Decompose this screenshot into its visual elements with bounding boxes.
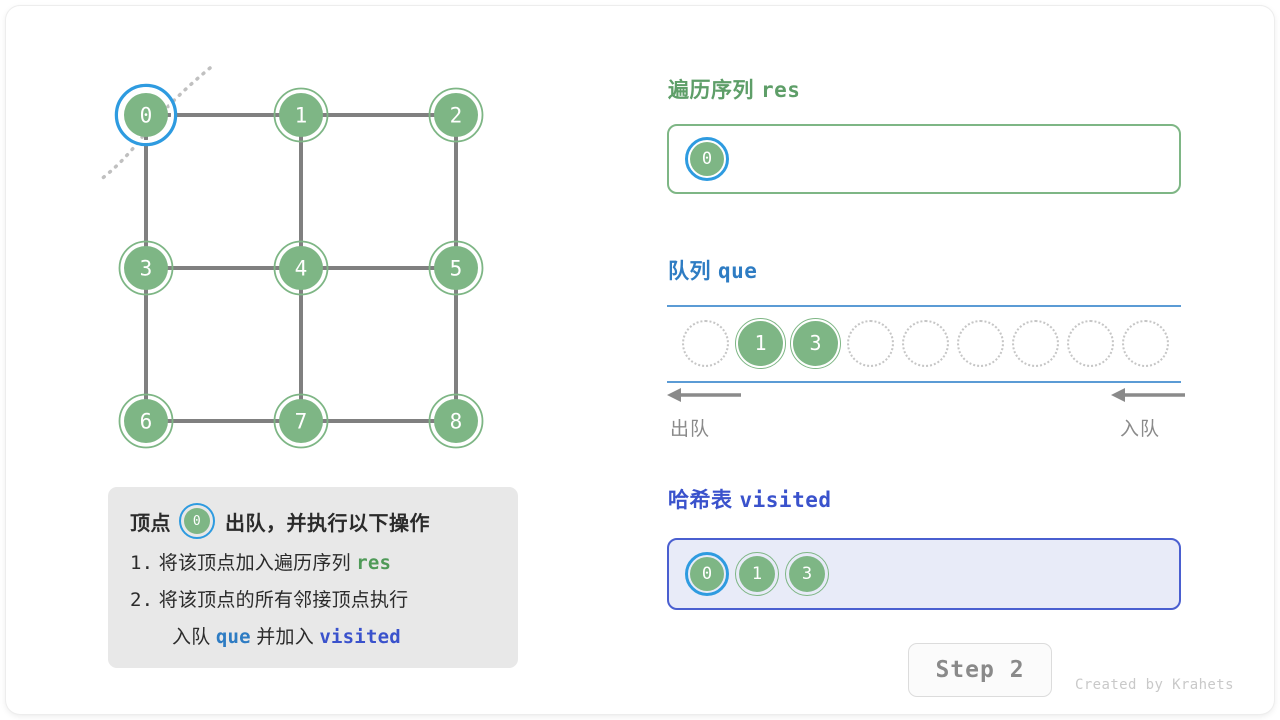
queue-slot-empty [957,320,1004,367]
caption-item-2: 2. 将该顶点的所有邻接顶点执行 [130,588,498,613]
node-chip: 1 [735,552,779,596]
queue-slot-empty [1122,320,1169,367]
queue-slot [954,317,1007,370]
queue-slot: 1 [734,317,787,370]
node-chip-label: 3 [789,556,825,592]
node-chip: 0 [685,552,729,596]
enqueue-label: 入队 [1120,414,1160,441]
queue-slots: 13 [667,311,1181,375]
graph-node-label: 3 [140,257,153,281]
caption-heading: 顶点 0 出队，并执行以下操作 [130,503,498,539]
graph-node-0[interactable]: 0 [117,86,176,145]
caption-head-before: 顶点 [130,507,171,536]
visited-title-cn: 哈希表 [668,489,733,512]
visited-title-code: visited [740,488,832,512]
res-container: 0 [667,124,1181,194]
caption-item-1-number: 1. [130,552,153,574]
enqueue-arrow-icon [1111,386,1187,404]
graph-node-label: 0 [140,104,153,128]
queue-slot: 3 [789,317,842,370]
graph-node-5[interactable]: 5 [430,242,483,295]
queue-slot [1119,317,1172,370]
graph-node-4[interactable]: 4 [275,242,328,295]
caption-box: 顶点 0 出队，并执行以下操作 1. 将该顶点加入遍历序列 res 2. 将该顶… [108,487,518,668]
queue-slot-empty [902,320,949,367]
caption-head-after: 出队，并执行以下操作 [225,507,430,536]
caption-node-label: 0 [184,508,210,534]
graph-node-3[interactable]: 3 [120,242,173,295]
queue-section-title: 队列que [668,255,757,285]
queue-title-code: que [718,259,757,283]
bfs-illustration-page: 012345678 顶点 0 出队，并执行以下操作 1. 将该顶点加入遍历序列 … [0,0,1280,720]
graph-node-label: 6 [140,410,153,434]
state-panel: 遍历序列res 0 队列que 13 出队 入队 哈希表visited 013 … [620,0,1280,720]
queue-slot [1064,317,1117,370]
graph-panel: 012345678 顶点 0 出队，并执行以下操作 1. 将该顶点加入遍历序列 … [0,0,620,720]
dequeue-arrow-icon [667,386,743,404]
res-section-title: 遍历序列res [668,74,800,104]
queue-rail-bottom [667,381,1181,383]
queue-slot-empty [1067,320,1114,367]
caption-item-2-line2-mid: 并加入 [256,627,314,648]
graph-node-1[interactable]: 1 [275,89,328,142]
queue-slot [1009,317,1062,370]
queue-container: 13 [667,305,1181,383]
graph-node-7[interactable]: 7 [275,395,328,448]
queue-slot [844,317,897,370]
queue-rail-top [667,305,1181,307]
caption-item-2-text: 将该顶点的所有邻接顶点执行 [159,590,409,611]
graph-node-label: 8 [450,410,463,434]
caption-item-1-text: 将该顶点加入遍历序列 [159,553,351,574]
graph-node-label: 2 [450,104,463,128]
node-chip-label: 1 [739,556,775,592]
caption-item-2-code-que: que [216,626,251,648]
res-title-cn: 遍历序列 [668,79,754,102]
credit-text: Created by Krahets [1075,677,1234,693]
caption-item-2-number: 2. [130,589,153,611]
caption-item-2-line2: 入队 que 并加入 visited [130,625,498,650]
step-badge: Step 2 [908,643,1052,697]
graph-canvas: 012345678 [0,0,620,480]
visited-section-title: 哈希表visited [668,484,832,514]
caption-node-chip: 0 [179,503,215,539]
queue-slot-empty [682,320,729,367]
node-chip-label: 0 [690,557,724,591]
caption-item-2-line2-before: 入队 [172,627,210,648]
queue-slot-label: 3 [793,321,838,366]
queue-slot [679,317,732,370]
graph-node-label: 4 [295,257,308,281]
queue-slot-label: 1 [738,321,783,366]
caption-item-2-code-visited: visited [319,626,400,648]
node-chip: 3 [785,552,829,596]
node-chip: 0 [685,137,729,181]
node-chip-label: 0 [690,142,724,176]
queue-slot [899,317,952,370]
caption-item-1-code: res [356,552,391,574]
graph-node-2[interactable]: 2 [430,89,483,142]
visited-container: 013 [667,538,1181,610]
dequeue-label: 出队 [670,414,710,441]
graph-node-label: 7 [295,410,308,434]
queue-slot-empty [847,320,894,367]
queue-title-cn: 队列 [668,260,711,283]
queue-slot-empty [1012,320,1059,367]
res-title-code: res [761,78,800,102]
graph-node-6[interactable]: 6 [120,395,173,448]
graph-node-label: 5 [450,257,463,281]
caption-item-1: 1. 将该顶点加入遍历序列 res [130,551,498,576]
graph-node-8[interactable]: 8 [430,395,483,448]
graph-node-label: 1 [295,104,308,128]
